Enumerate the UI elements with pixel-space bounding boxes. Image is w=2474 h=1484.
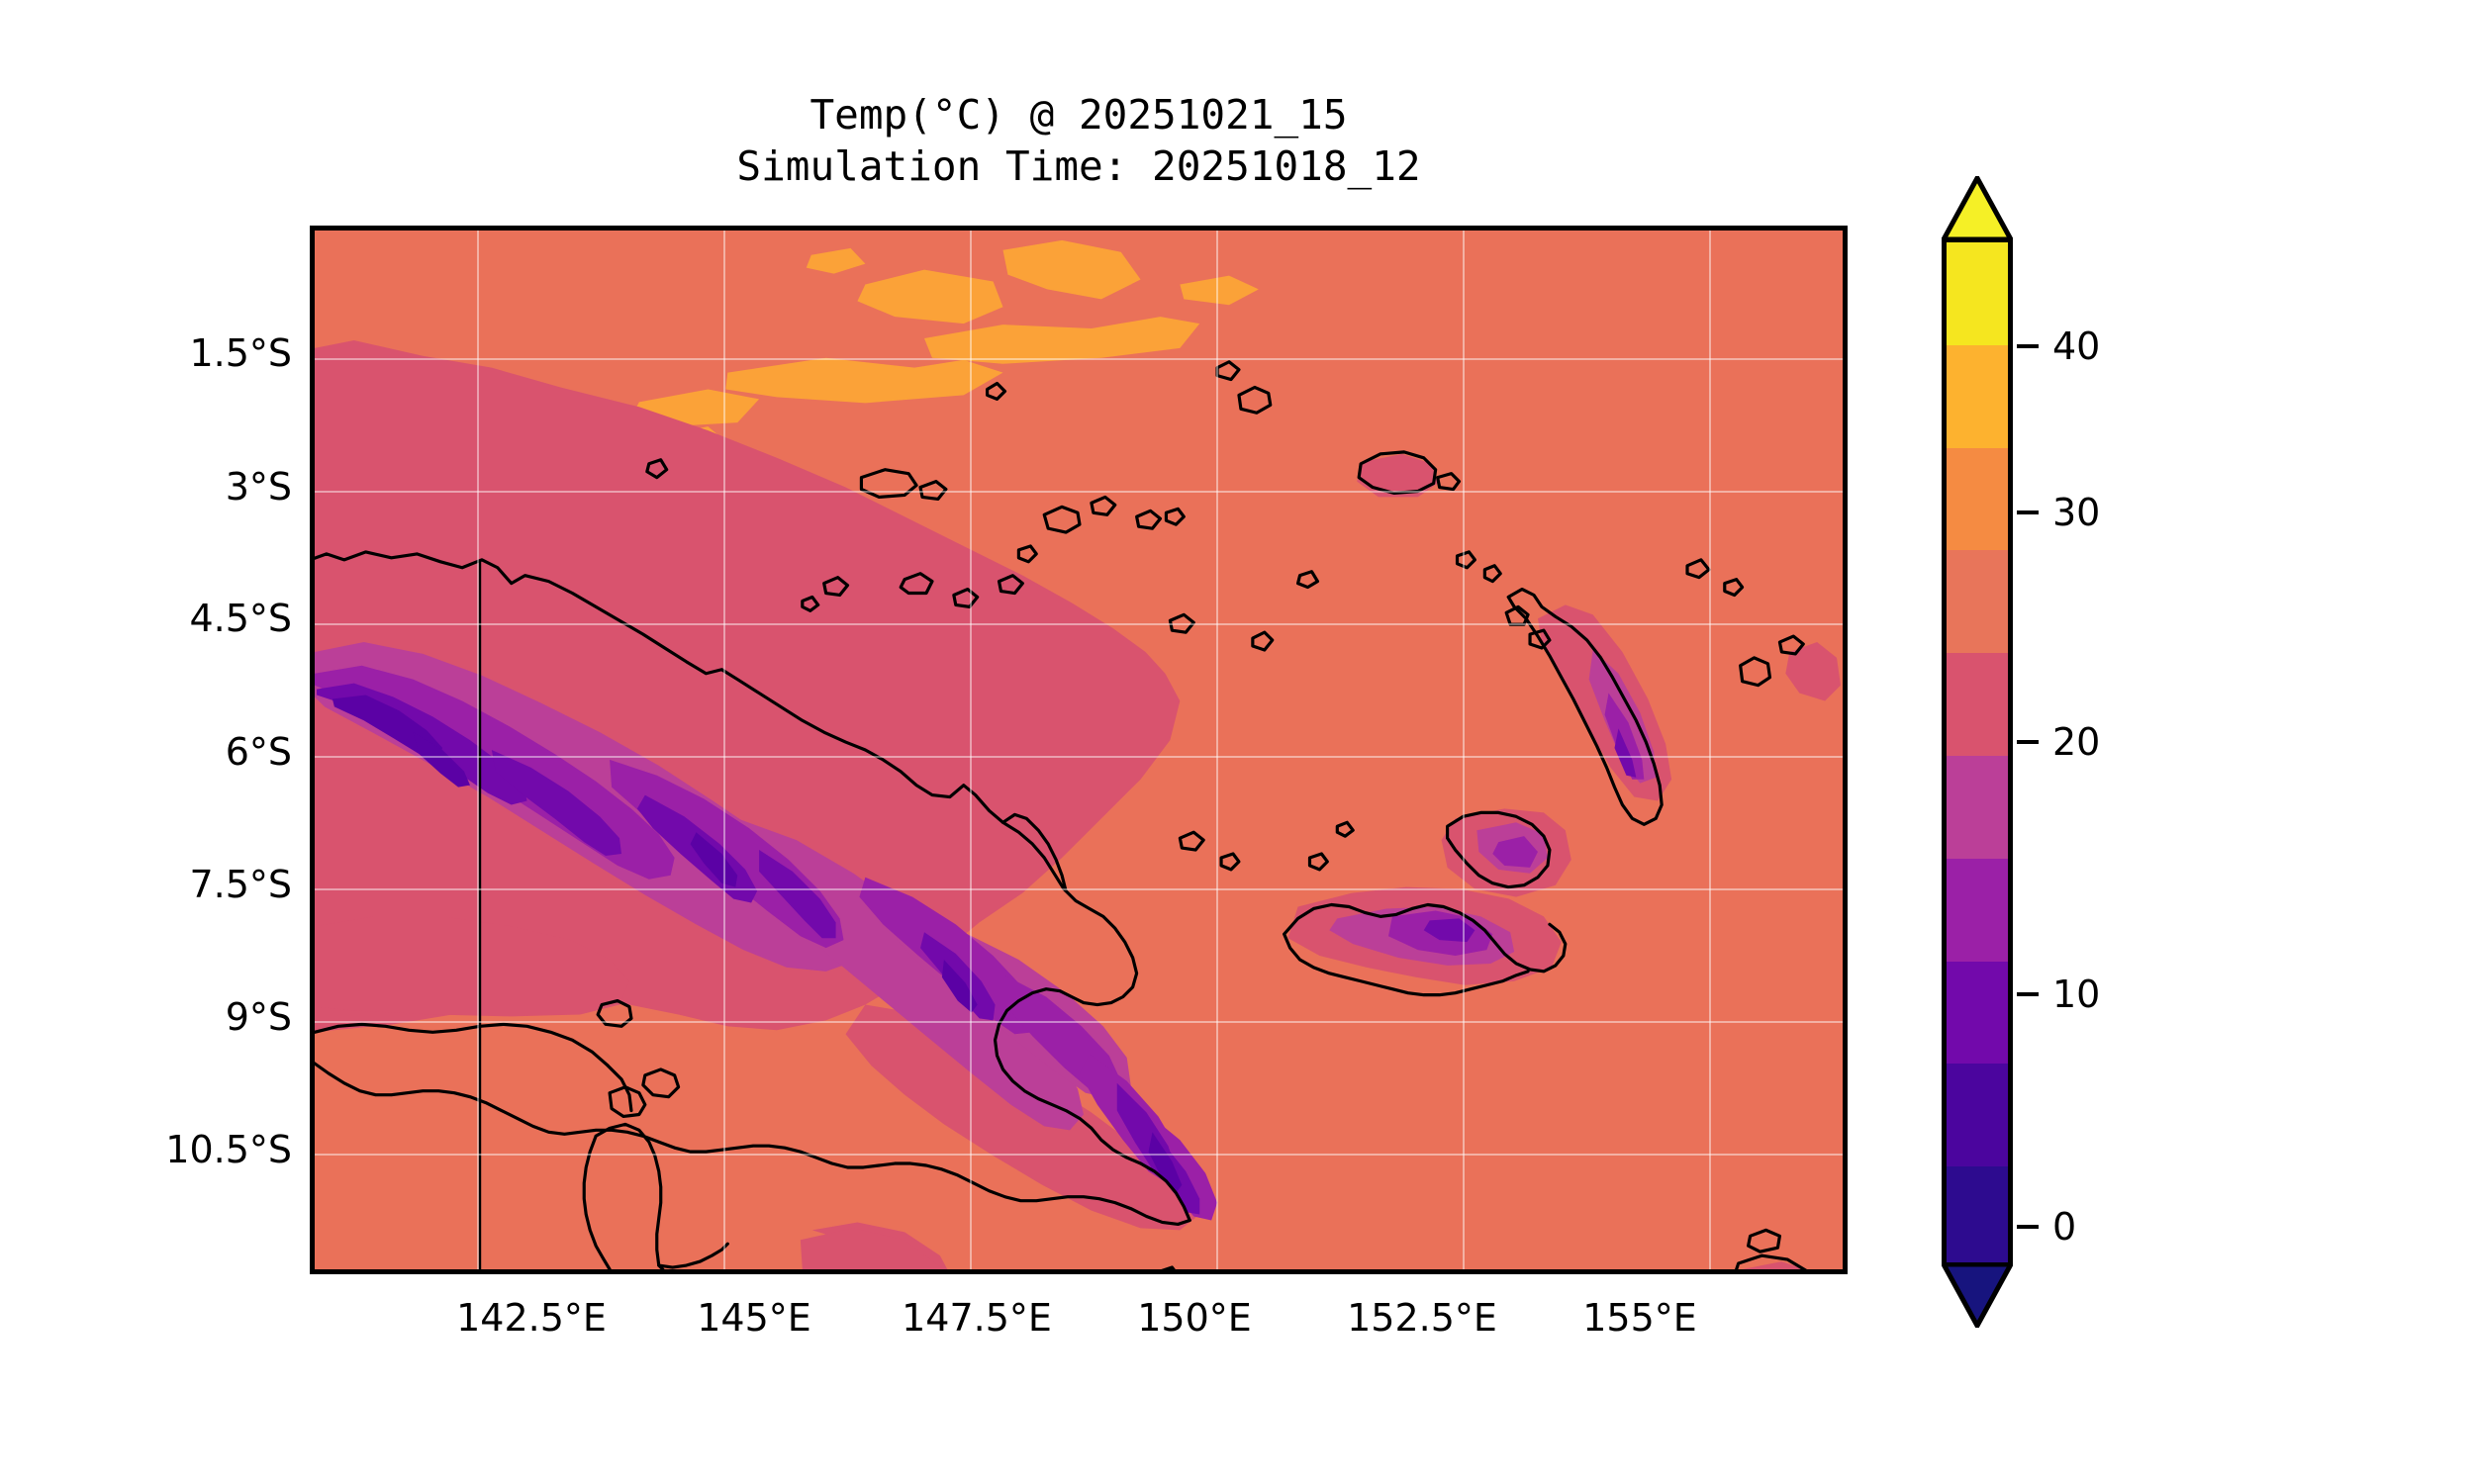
- gridline-vertical: [1709, 231, 1711, 1269]
- x-tick-label: 145°E: [697, 1296, 811, 1340]
- colorbar-extend-bottom-arrow: [1942, 1262, 2013, 1328]
- gridline-vertical: [1463, 231, 1465, 1269]
- colorbar-bands: [1942, 237, 2013, 1264]
- gridline-horizontal: [315, 491, 1843, 493]
- colorbar-band-40-45: [1947, 242, 2008, 345]
- chart-subtitle: Simulation Time: 20251018_12: [310, 140, 1848, 192]
- y-tick-label: 9°S: [54, 995, 292, 1039]
- colorbar: 40 30 20 10 0: [1942, 176, 2013, 1324]
- colorbar-band-5-10: [1947, 962, 2008, 1065]
- x-tick-label: 150°E: [1137, 1296, 1252, 1340]
- colorbar-tick-label: 10: [2052, 973, 2100, 1016]
- colorbar-band-10-15: [1947, 859, 2008, 962]
- y-tick-label: 6°S: [54, 730, 292, 774]
- y-tick-label: 3°S: [54, 465, 292, 509]
- gridline-vertical: [477, 231, 479, 1269]
- gridline-vertical: [970, 231, 972, 1269]
- colorbar-tick-label: 20: [2052, 720, 2100, 764]
- y-tick-label: 10.5°S: [54, 1128, 292, 1171]
- y-tick-label: 7.5°S: [54, 863, 292, 906]
- y-tick-label: 4.5°S: [54, 597, 292, 640]
- gridline-horizontal: [315, 888, 1843, 890]
- colorbar-tick-label: 0: [2052, 1205, 2076, 1249]
- colorbar-band-20-25: [1947, 653, 2008, 756]
- colorbar-extend-top-arrow: [1942, 176, 2013, 241]
- colorbar-tick-label: 40: [2052, 325, 2100, 368]
- colorbar-tick: [2017, 992, 2039, 996]
- gridline-horizontal: [315, 358, 1843, 360]
- colorbar-tick-label: 30: [2052, 491, 2100, 534]
- gridline-horizontal: [315, 1021, 1843, 1023]
- colorbar-tick: [2017, 344, 2039, 348]
- x-tick-label: 142.5°E: [456, 1296, 607, 1340]
- colorbar-tick: [2017, 740, 2039, 744]
- x-tick-label: 147.5°E: [902, 1296, 1052, 1340]
- colorbar-tick: [2017, 510, 2039, 514]
- chart-title-block: Temp(°C) @ 20251021_15 Simulation Time: …: [310, 89, 1848, 193]
- colorbar-band-0-5: [1947, 1064, 2008, 1166]
- colorbar-band-35-40: [1947, 345, 2008, 448]
- colorbar-band-15-20: [1947, 756, 2008, 859]
- gridline-horizontal: [315, 1154, 1843, 1156]
- colorbar-band-30-35: [1947, 448, 2008, 551]
- colorbar-band-neg5-0: [1947, 1166, 2008, 1269]
- page-title: Temp(°C) @ 20251021_15: [310, 89, 1848, 140]
- gridline-vertical: [723, 231, 725, 1269]
- y-tick-label: 1.5°S: [54, 331, 292, 375]
- colorbar-band-25-30: [1947, 550, 2008, 653]
- x-tick-label: 152.5°E: [1347, 1296, 1497, 1340]
- map-plot-frame: [310, 226, 1848, 1274]
- gridline-vertical: [1216, 231, 1218, 1269]
- colorbar-tick: [2017, 1225, 2039, 1229]
- x-tick-label: 155°E: [1582, 1296, 1697, 1340]
- gridline-horizontal: [315, 623, 1843, 625]
- gridline-horizontal: [315, 756, 1843, 758]
- temperature-contour-map: [315, 231, 1843, 1269]
